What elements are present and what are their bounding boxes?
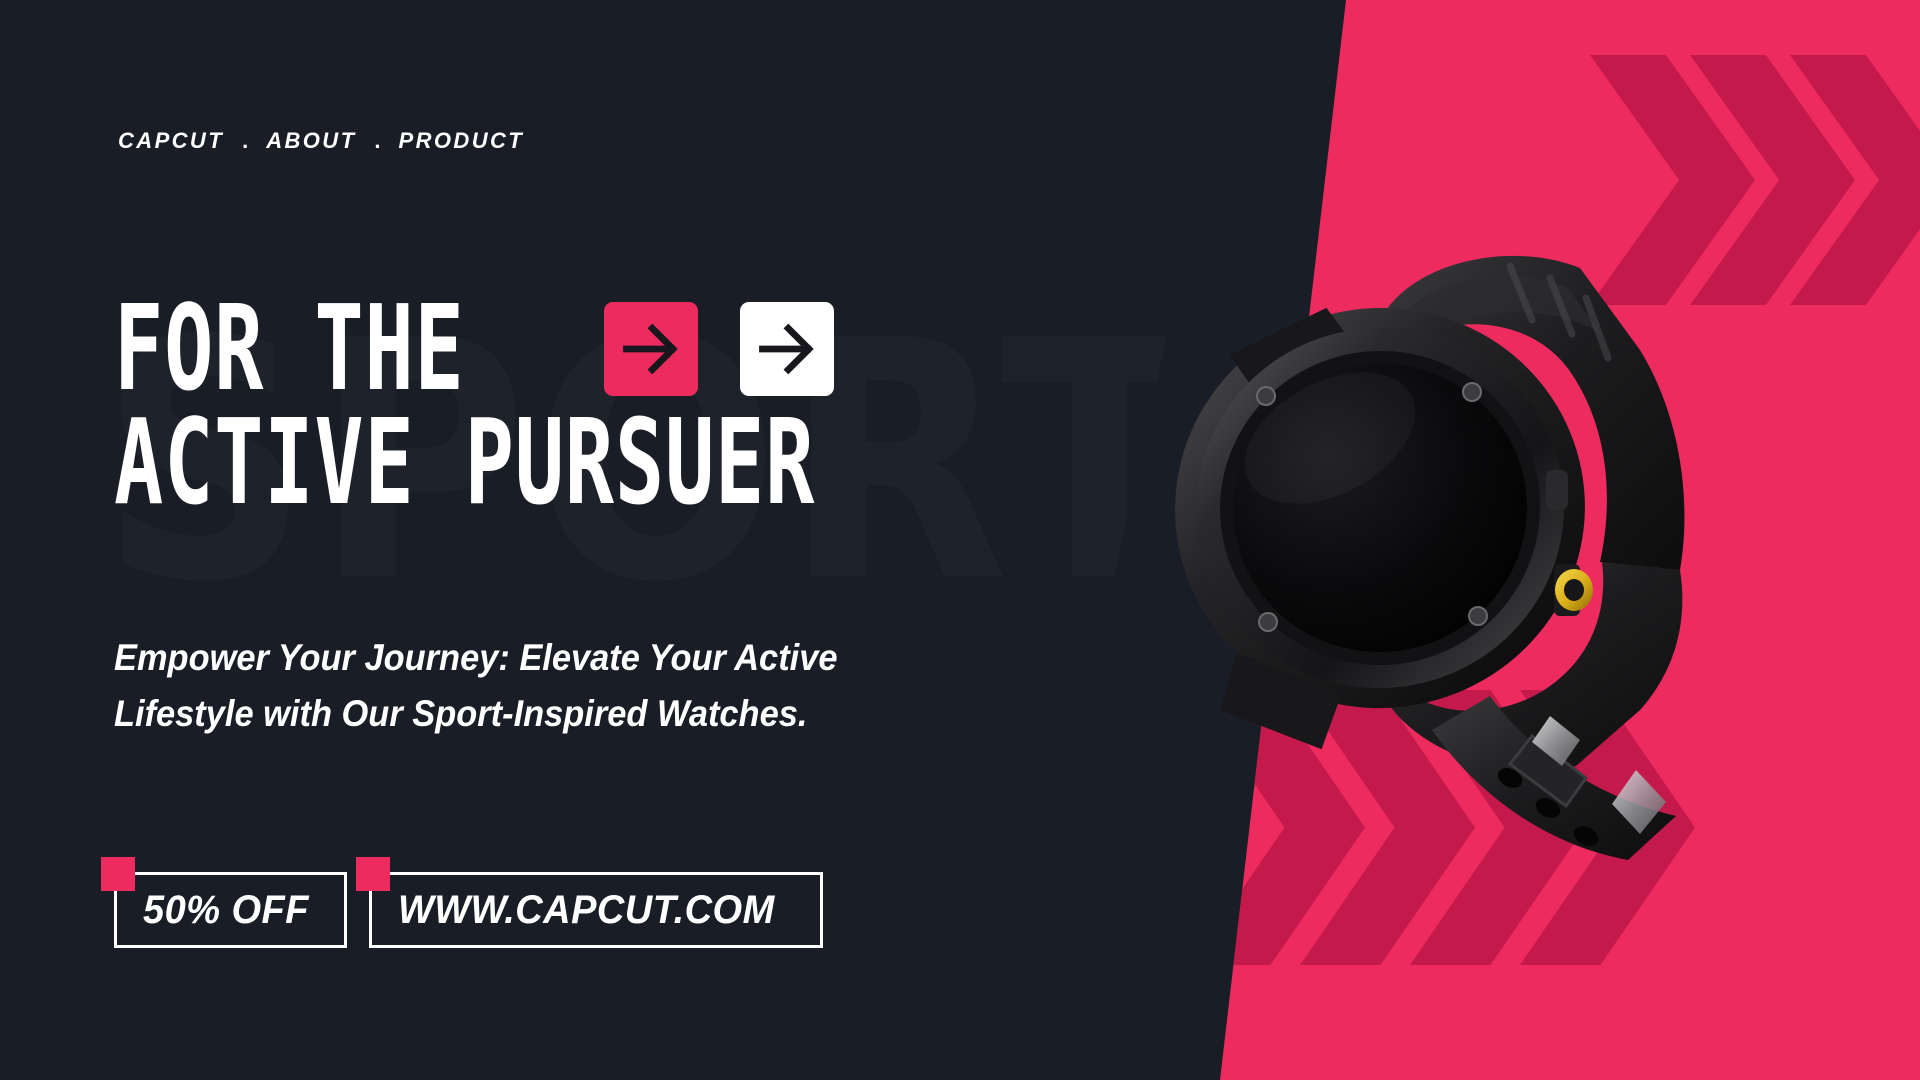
badge-accent-square bbox=[101, 857, 135, 891]
arrow-right-button-primary[interactable] bbox=[604, 302, 698, 396]
headline-line-2: ACTIVE PURSUER bbox=[114, 408, 815, 520]
bottom-badge-group: 50% OFF WWW.CAPCUT.COM bbox=[114, 872, 823, 948]
nav-item-about[interactable]: ABOUT bbox=[266, 128, 356, 154]
promo-banner: SPORT bbox=[0, 0, 1920, 1080]
top-navigation: CAPCUT . ABOUT . PRODUCT bbox=[118, 128, 524, 154]
hero-subheading: Empower Your Journey: Elevate Your Activ… bbox=[114, 630, 886, 742]
smartwatch-product-image bbox=[1080, 170, 1720, 870]
nav-item-capcut[interactable]: CAPCUT bbox=[118, 128, 224, 154]
headline-line-1: FOR THE bbox=[114, 294, 465, 406]
hero-headline: FOR THE ACTIVE PURSUER bbox=[114, 300, 1013, 514]
nav-item-product[interactable]: PRODUCT bbox=[399, 128, 525, 154]
arrow-right-icon bbox=[620, 318, 682, 380]
headline-row-2: ACTIVE PURSUER bbox=[114, 414, 1013, 514]
badge-accent-square bbox=[356, 857, 390, 891]
discount-badge-label: 50% OFF bbox=[143, 888, 309, 933]
nav-separator-2: . bbox=[356, 128, 398, 154]
discount-badge[interactable]: 50% OFF bbox=[114, 872, 347, 948]
arrow-right-icon bbox=[756, 318, 818, 380]
website-badge[interactable]: WWW.CAPCUT.COM bbox=[369, 872, 824, 948]
nav-separator-1: . bbox=[224, 128, 266, 154]
headline-row-1: FOR THE bbox=[114, 300, 1013, 400]
website-badge-label: WWW.CAPCUT.COM bbox=[398, 888, 775, 933]
cta-arrow-group bbox=[604, 302, 834, 396]
arrow-right-button-secondary[interactable] bbox=[740, 302, 834, 396]
